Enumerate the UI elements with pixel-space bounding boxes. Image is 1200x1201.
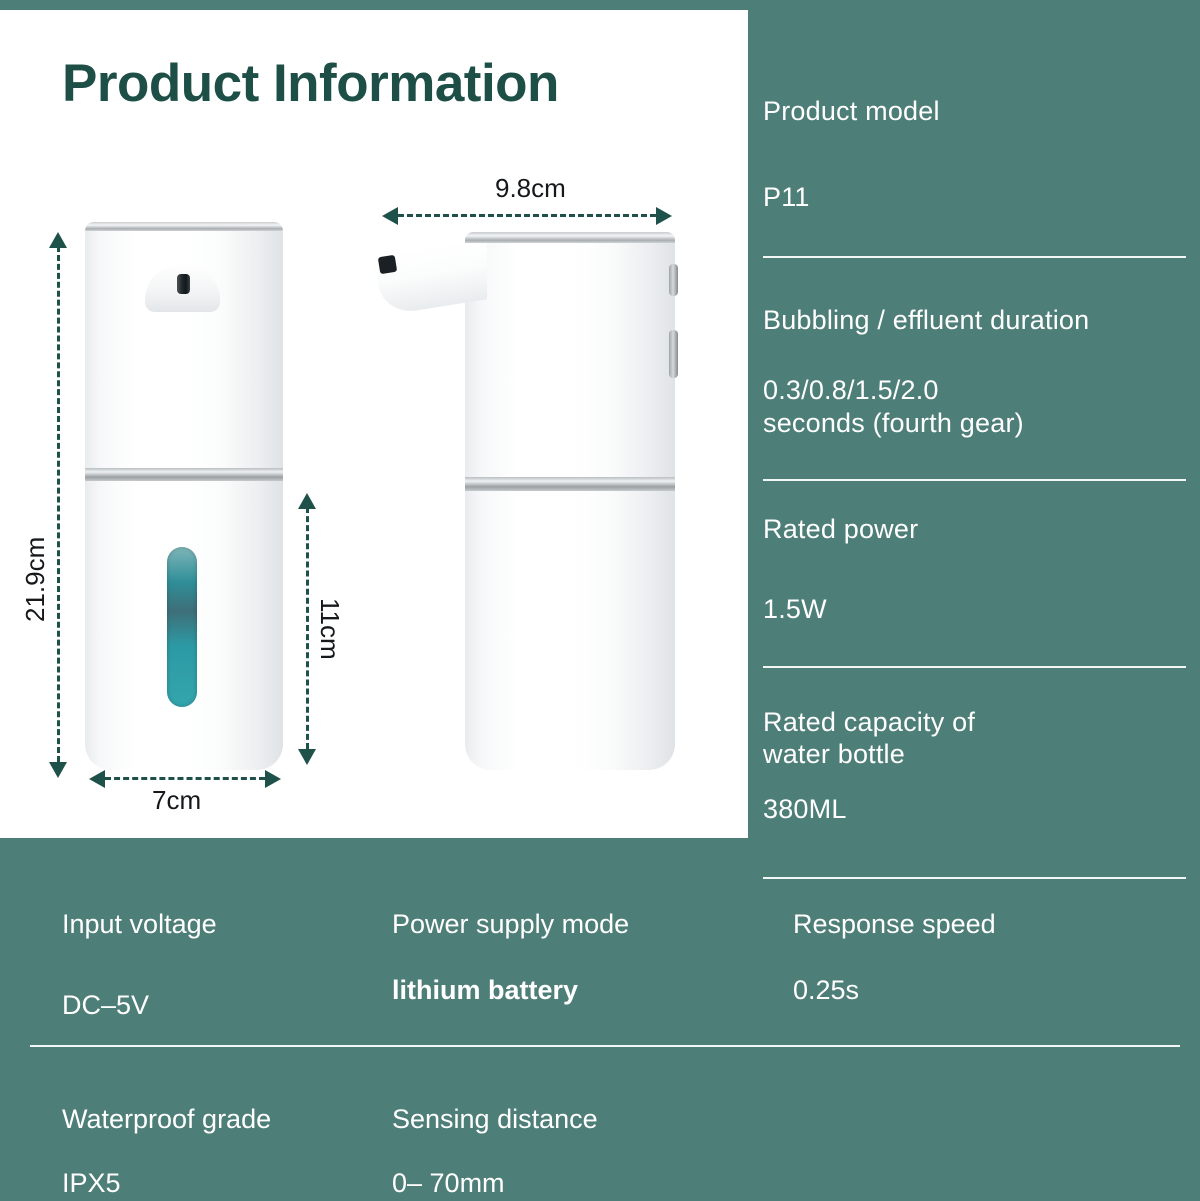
spec-label: Product model xyxy=(763,95,1186,127)
infographic-page: Product Information 21.9cm 11cm 7cm 9.8c… xyxy=(0,0,1200,1200)
bottle-height-dimension-label: 11cm xyxy=(314,598,345,660)
bottle-height-dimension-line xyxy=(306,507,309,749)
depth-dimension-line xyxy=(398,214,656,217)
soap-level-window xyxy=(167,547,197,707)
spec-item-response-speed: Response speed 0.25s xyxy=(793,908,996,1008)
product-image-panel: Product Information 21.9cm 11cm 7cm 9.8c… xyxy=(0,10,748,838)
spec-item-bubbling-duration: Bubbling / effluent duration 0.3/0.8/1.5… xyxy=(763,304,1186,439)
spec-divider xyxy=(763,256,1186,258)
power-button[interactable] xyxy=(669,264,678,296)
spec-label: Bubbling / effluent duration xyxy=(763,304,1186,336)
spec-value: 380ML xyxy=(763,793,1186,825)
spec-value: 1.5W xyxy=(763,593,1186,625)
dispenser-body-side xyxy=(465,232,675,770)
spec-label: Response speed xyxy=(793,908,996,942)
mode-button[interactable] xyxy=(669,330,678,378)
bottle-height-arrow-up-icon xyxy=(298,493,316,509)
spec-label: Sensing distance xyxy=(392,1103,598,1137)
spec-value: DC–5V xyxy=(62,989,217,1023)
spec-item-power-supply-mode: Power supply mode lithium battery xyxy=(392,908,629,1008)
spec-label: Rated capacity of water bottle xyxy=(763,706,1186,771)
width-arrow-right-icon xyxy=(265,770,281,788)
height-arrow-up-icon xyxy=(49,232,67,248)
right-spec-list: Product model P11 Bubbling / effluent du… xyxy=(763,95,1186,879)
width-dimension-label: 7cm xyxy=(152,785,201,816)
spec-value: P11 xyxy=(763,181,1186,213)
top-chrome-band-side xyxy=(465,232,675,243)
product-side-view-image xyxy=(465,232,675,770)
bottom-spec-divider xyxy=(30,1045,1180,1047)
spec-value: IPX5 xyxy=(62,1167,271,1201)
height-dimension-label: 21.9cm xyxy=(20,537,51,622)
product-front-view-image xyxy=(85,222,283,770)
spec-value: 0.3/0.8/1.5/2.0 seconds (fourth gear) xyxy=(763,374,1186,439)
spec-divider xyxy=(763,666,1186,668)
spec-item-waterproof-grade: Waterproof grade IPX5 xyxy=(62,1103,271,1201)
page-title: Product Information xyxy=(62,56,559,112)
spec-label: Input voltage xyxy=(62,908,217,942)
spec-divider xyxy=(763,479,1186,481)
mid-chrome-band-side xyxy=(465,477,675,491)
spec-item-input-voltage: Input voltage DC–5V xyxy=(62,908,217,1023)
bottom-spec-grid: Input voltage DC–5V Power supply mode li… xyxy=(0,838,1200,1200)
spec-label: Power supply mode xyxy=(392,908,629,942)
spec-label: Rated power xyxy=(763,513,1186,545)
sensor-eye-icon xyxy=(177,274,190,294)
spec-item-rated-power: Rated power 1.5W xyxy=(763,513,1186,626)
height-dimension-line xyxy=(57,246,60,762)
depth-arrow-right-icon xyxy=(656,207,672,225)
width-arrow-left-icon xyxy=(89,770,105,788)
spec-value: 0– 70mm xyxy=(392,1167,598,1201)
spec-item-sensing-distance: Sensing distance 0– 70mm xyxy=(392,1103,598,1201)
height-arrow-down-icon xyxy=(49,762,67,778)
spec-label: Waterproof grade xyxy=(62,1103,271,1137)
mid-chrome-band xyxy=(85,468,283,481)
spout-sensor-icon xyxy=(378,255,397,274)
bottle-height-arrow-down-icon xyxy=(298,749,316,765)
spec-item-rated-capacity: Rated capacity of water bottle 380ML xyxy=(763,706,1186,825)
width-dimension-line xyxy=(105,777,265,780)
spec-item-product-model: Product model P11 xyxy=(763,95,1186,214)
top-chrome-band xyxy=(85,222,283,231)
depth-arrow-left-icon xyxy=(382,207,398,225)
depth-dimension-label: 9.8cm xyxy=(495,173,566,204)
spec-value: lithium battery xyxy=(392,974,629,1008)
spec-value: 0.25s xyxy=(793,974,996,1008)
